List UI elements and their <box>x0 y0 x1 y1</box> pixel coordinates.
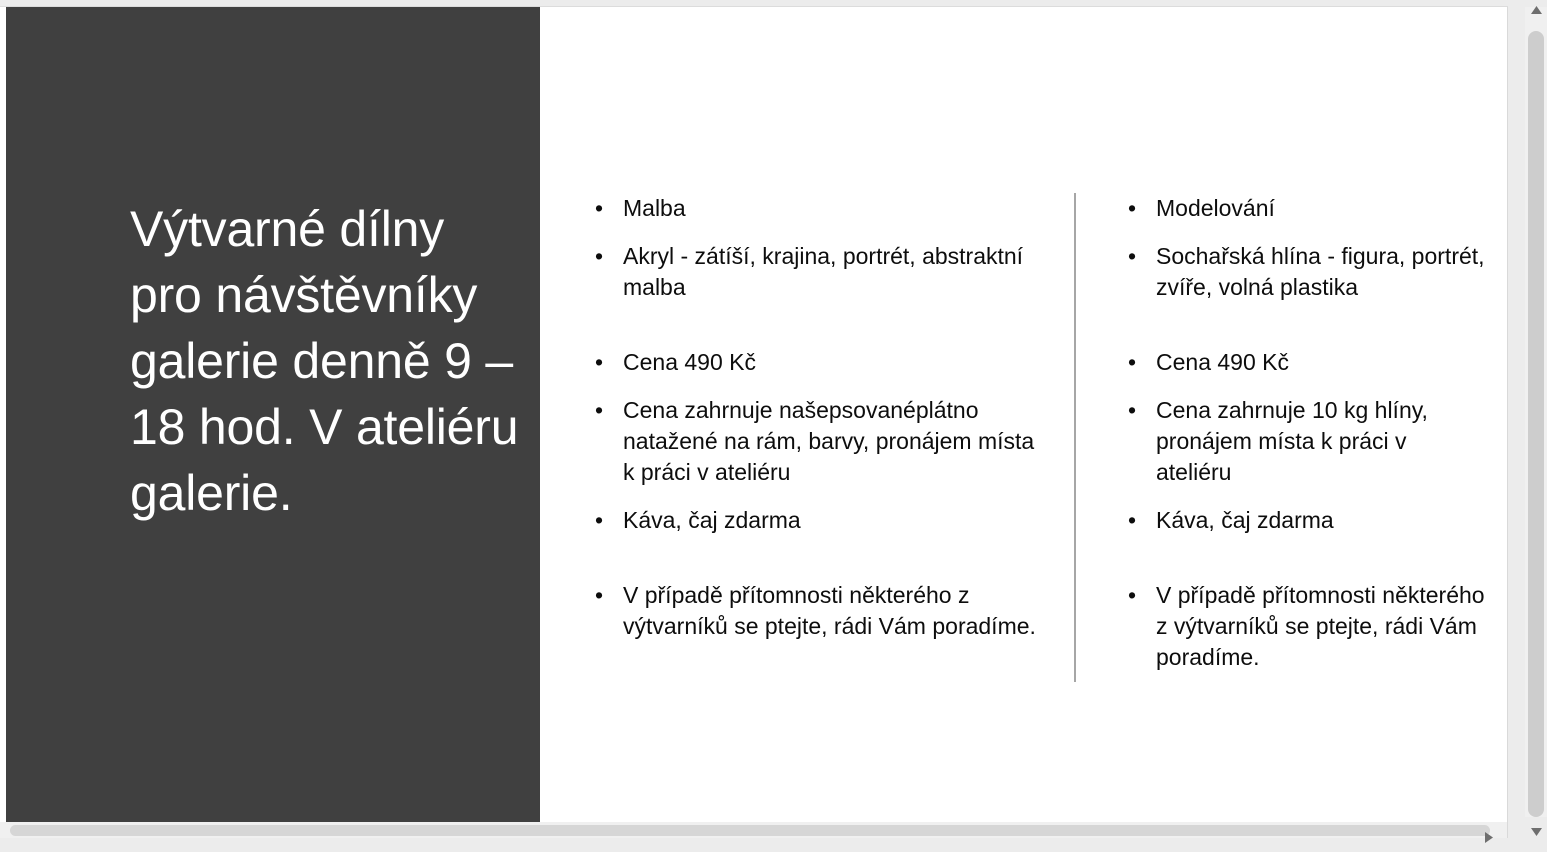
bullet-point-icon: • <box>595 241 603 272</box>
scroll-right-arrow-button[interactable] <box>1478 828 1498 846</box>
list-item-text: Cena zahrnuje 10 kg hlíny, pronájem míst… <box>1156 397 1428 485</box>
list-item: • Malba <box>585 193 1040 224</box>
list-item: • V případě přítomnosti některého z výtv… <box>1118 580 1488 673</box>
bullet-point-icon: • <box>595 193 603 224</box>
vertical-scrollbar-thumb[interactable] <box>1528 31 1544 817</box>
slide-title: Výtvarné dílny pro návštěvníky galerie d… <box>130 196 526 526</box>
list-item-text: Cena 490 Kč <box>1156 349 1289 375</box>
list-item-text: Akryl - zátíší, krajina, portrét, abstra… <box>623 243 1023 300</box>
bullet-point-icon: • <box>1128 347 1136 378</box>
list-item: • Modelování <box>1118 193 1488 224</box>
group-spacer <box>1118 303 1488 347</box>
scroll-down-arrow-button[interactable] <box>1525 822 1547 842</box>
bullet-point-icon: • <box>595 395 603 426</box>
bullet-point-icon: • <box>595 347 603 378</box>
bullet-group: • Cena 490 Kč • Cena zahrnuje našepsovan… <box>585 347 1040 536</box>
bullet-point-icon: • <box>1128 395 1136 426</box>
list-item: • V případě přítomnosti některého z výtv… <box>585 580 1040 642</box>
list-item-text: Malba <box>623 195 686 221</box>
bullet-column-left: • Malba • Akryl - zátíší, krajina, portr… <box>585 193 1040 642</box>
list-item-text: Sochařská hlína - figura, portrét, zvíře… <box>1156 243 1485 300</box>
list-item-text: Modelování <box>1156 195 1275 221</box>
list-item: • Cena zahrnuje našepsovanéplátno nataže… <box>585 395 1040 488</box>
list-item: • Cena zahrnuje 10 kg hlíny, pronájem mí… <box>1118 395 1488 488</box>
title-panel: Výtvarné dílny pro návštěvníky galerie d… <box>6 7 540 838</box>
bullet-group: • Modelování • Sochařská hlína - figura,… <box>1118 193 1488 303</box>
list-item-text: V případě přítomnosti některého z výtvar… <box>1156 582 1485 670</box>
list-item: • Akryl - zátíší, krajina, portrét, abst… <box>585 241 1040 303</box>
content-area: • Malba • Akryl - zátíší, krajina, portr… <box>540 7 1507 838</box>
bullet-group: • V případě přítomnosti některého z výtv… <box>585 580 1040 642</box>
bullet-point-icon: • <box>595 505 603 536</box>
bullet-point-icon: • <box>1128 193 1136 224</box>
scroll-up-arrow-button[interactable] <box>1525 0 1547 20</box>
list-item-text: Káva, čaj zdarma <box>623 507 801 533</box>
slide-canvas: Výtvarné dílny pro návštěvníky galerie d… <box>0 7 1508 838</box>
list-item-text: V případě přítomnosti některého z výtvar… <box>623 582 1036 639</box>
bullet-column-right: • Modelování • Sochařská hlína - figura,… <box>1118 193 1488 673</box>
list-item: • Sochařská hlína - figura, portrét, zví… <box>1118 241 1488 303</box>
horizontal-scrollbar[interactable] <box>0 822 1508 838</box>
bullet-point-icon: • <box>1128 241 1136 272</box>
list-item: • Káva, čaj zdarma <box>585 505 1040 536</box>
bullet-group: • Cena 490 Kč • Cena zahrnuje 10 kg hlín… <box>1118 347 1488 536</box>
horizontal-scrollbar-thumb[interactable] <box>10 825 1490 836</box>
list-item-text: Cena 490 Kč <box>623 349 756 375</box>
list-item: • Káva, čaj zdarma <box>1118 505 1488 536</box>
group-spacer <box>1118 536 1488 580</box>
list-item: • Cena 490 Kč <box>585 347 1040 378</box>
list-item: • Cena 490 Kč <box>1118 347 1488 378</box>
document-viewer: Výtvarné dílny pro návštěvníky galerie d… <box>0 0 1547 852</box>
bullet-point-icon: • <box>595 580 603 611</box>
column-divider <box>1074 193 1076 682</box>
vertical-scrollbar[interactable] <box>1525 7 1547 817</box>
list-item-text: Káva, čaj zdarma <box>1156 507 1334 533</box>
group-spacer <box>585 303 1040 347</box>
bullet-point-icon: • <box>1128 580 1136 611</box>
bullet-group: • V případě přítomnosti některého z výtv… <box>1118 580 1488 673</box>
list-item-text: Cena zahrnuje našepsovanéplátno natažené… <box>623 397 1034 485</box>
bullet-group: • Malba • Akryl - zátíší, krajina, portr… <box>585 193 1040 303</box>
bullet-point-icon: • <box>1128 505 1136 536</box>
group-spacer <box>585 536 1040 580</box>
